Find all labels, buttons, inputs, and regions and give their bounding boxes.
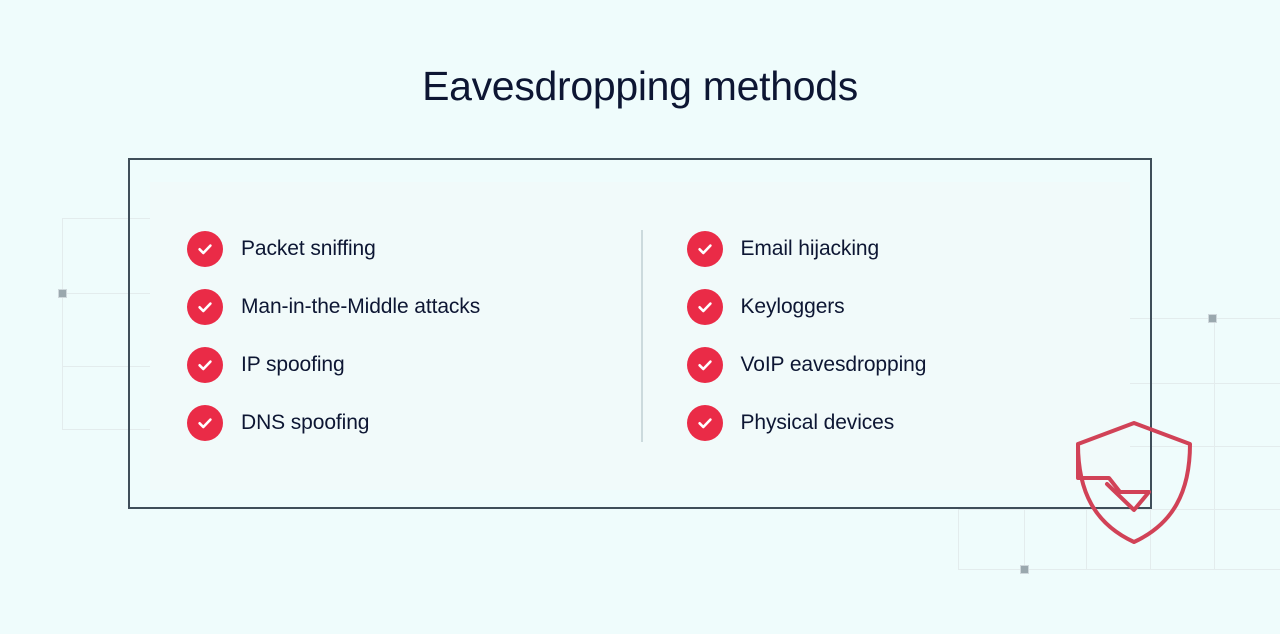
list-item: IP spoofing — [187, 336, 631, 394]
grid-line — [1214, 318, 1215, 570]
check-circle-icon — [687, 231, 723, 267]
list-item-label: DNS spoofing — [241, 411, 369, 435]
methods-columns: Packet sniffing Man-in-the-Middle attack… — [150, 182, 1130, 490]
list-item: Keyloggers — [687, 278, 1131, 336]
grid-line — [1024, 509, 1025, 570]
list-item-label: VoIP eavesdropping — [741, 353, 927, 377]
right-column: Email hijacking Keyloggers VoIP eavesdro… — [631, 182, 1131, 490]
grid-marker — [58, 289, 67, 298]
check-circle-icon — [687, 347, 723, 383]
list-item: Physical devices — [687, 394, 1131, 452]
list-item-label: Man-in-the-Middle attacks — [241, 295, 480, 319]
list-item-label: IP spoofing — [241, 353, 345, 377]
grid-line — [958, 569, 1280, 570]
check-circle-icon — [187, 289, 223, 325]
methods-card: Packet sniffing Man-in-the-Middle attack… — [128, 158, 1152, 509]
page-title: Eavesdropping methods — [0, 57, 1280, 115]
list-item-label: Packet sniffing — [241, 237, 376, 261]
grid-line — [958, 509, 959, 570]
list-item: Email hijacking — [687, 220, 1131, 278]
list-item: VoIP eavesdropping — [687, 336, 1131, 394]
list-item-label: Keyloggers — [741, 295, 845, 319]
methods-card-inner-panel: Packet sniffing Man-in-the-Middle attack… — [150, 182, 1130, 490]
check-circle-icon — [687, 289, 723, 325]
list-item-label: Physical devices — [741, 411, 895, 435]
check-circle-icon — [187, 405, 223, 441]
check-circle-icon — [187, 231, 223, 267]
left-column: Packet sniffing Man-in-the-Middle attack… — [150, 182, 631, 490]
grid-marker — [1208, 314, 1217, 323]
list-item: Man-in-the-Middle attacks — [187, 278, 631, 336]
list-item: Packet sniffing — [187, 220, 631, 278]
shield-check-icon — [1073, 420, 1195, 545]
grid-line — [62, 218, 63, 430]
check-circle-icon — [687, 405, 723, 441]
list-item-label: Email hijacking — [741, 237, 880, 261]
grid-marker — [1020, 565, 1029, 574]
list-item: DNS spoofing — [187, 394, 631, 452]
check-circle-icon — [187, 347, 223, 383]
